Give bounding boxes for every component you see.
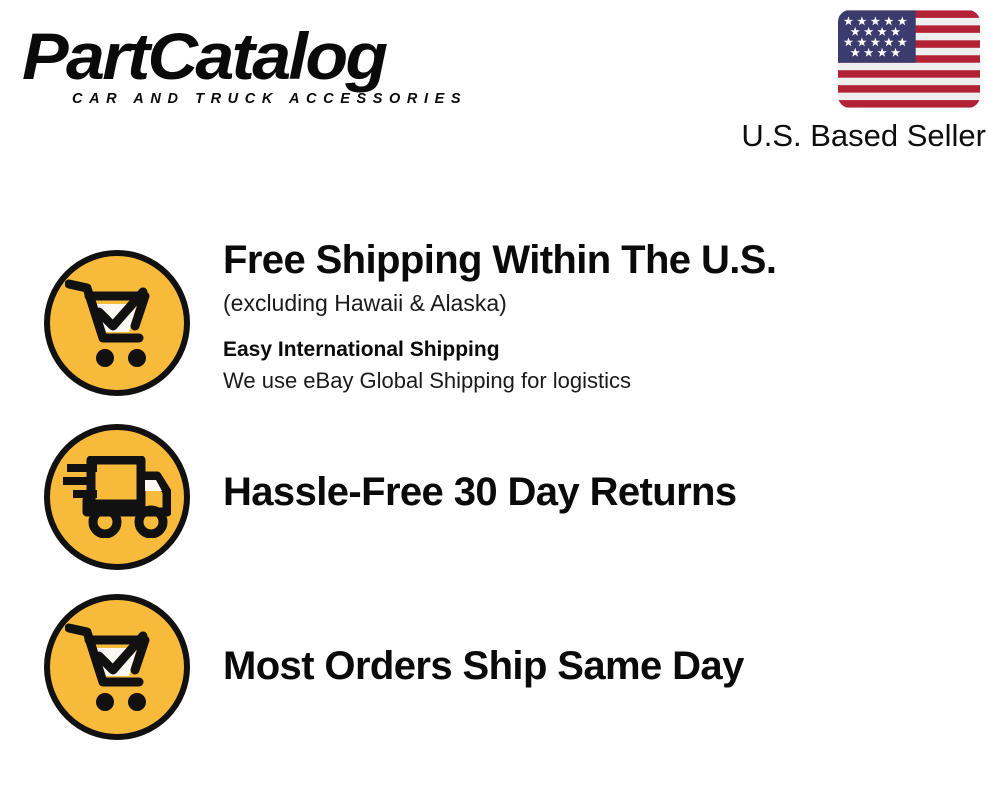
shopping-cart-check-icon (44, 250, 190, 396)
feature-heading: Most Orders Ship Same Day (223, 642, 990, 690)
logo-tagline: CAR AND TRUCK ACCESSORIES (72, 90, 467, 108)
feature-secondary-text: We use eBay Global Shipping for logistic… (223, 366, 990, 395)
logo-wordmark: PartCatalog (22, 20, 385, 92)
feature-text-block: Hassle-Free 30 Day Returns (223, 468, 990, 516)
feature-row: Free Shipping Within The U.S. (excluding… (0, 232, 1000, 414)
feature-text-block: Most Orders Ship Same Day (223, 642, 990, 690)
feature-subnote: (excluding Hawaii & Alaska) (223, 288, 990, 318)
feature-row: Most Orders Ship Same Day (0, 584, 1000, 756)
feature-row: Hassle-Free 30 Day Returns (0, 414, 1000, 584)
page-header: PartCatalog CAR AND TRUCK ACCESSORIES (0, 0, 1000, 170)
us-based-seller-label: U.S. Based Seller (741, 118, 986, 154)
feature-heading: Hassle-Free 30 Day Returns (223, 468, 990, 516)
feature-secondary-heading: Easy International Shipping (223, 336, 990, 364)
feature-heading: Free Shipping Within The U.S. (223, 236, 990, 284)
delivery-truck-icon (44, 424, 190, 570)
part-catalog-logo[interactable]: PartCatalog CAR AND TRUCK ACCESSORIES (22, 20, 492, 115)
shopping-cart-check-icon (44, 594, 190, 740)
us-flag-icon (838, 10, 980, 108)
feature-text-block: Free Shipping Within The U.S. (excluding… (223, 236, 990, 395)
